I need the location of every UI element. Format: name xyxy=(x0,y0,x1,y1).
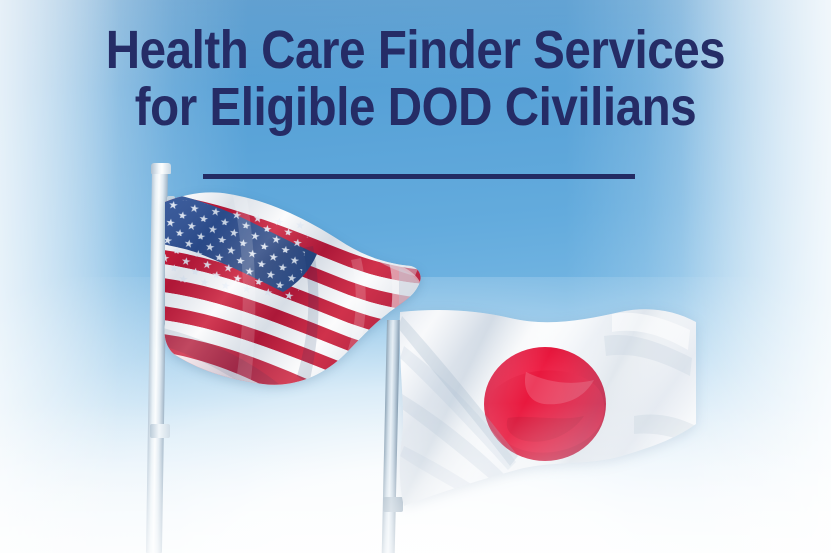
us-flagpole-collar xyxy=(150,424,170,438)
us-flagpole-finial-icon xyxy=(151,163,171,174)
title-underline-rule xyxy=(203,174,635,179)
us-flag-image xyxy=(163,188,425,400)
japan-flag-image xyxy=(398,306,698,518)
health-care-finder-banner: Health Care Finder Services for Eligible… xyxy=(0,0,831,553)
